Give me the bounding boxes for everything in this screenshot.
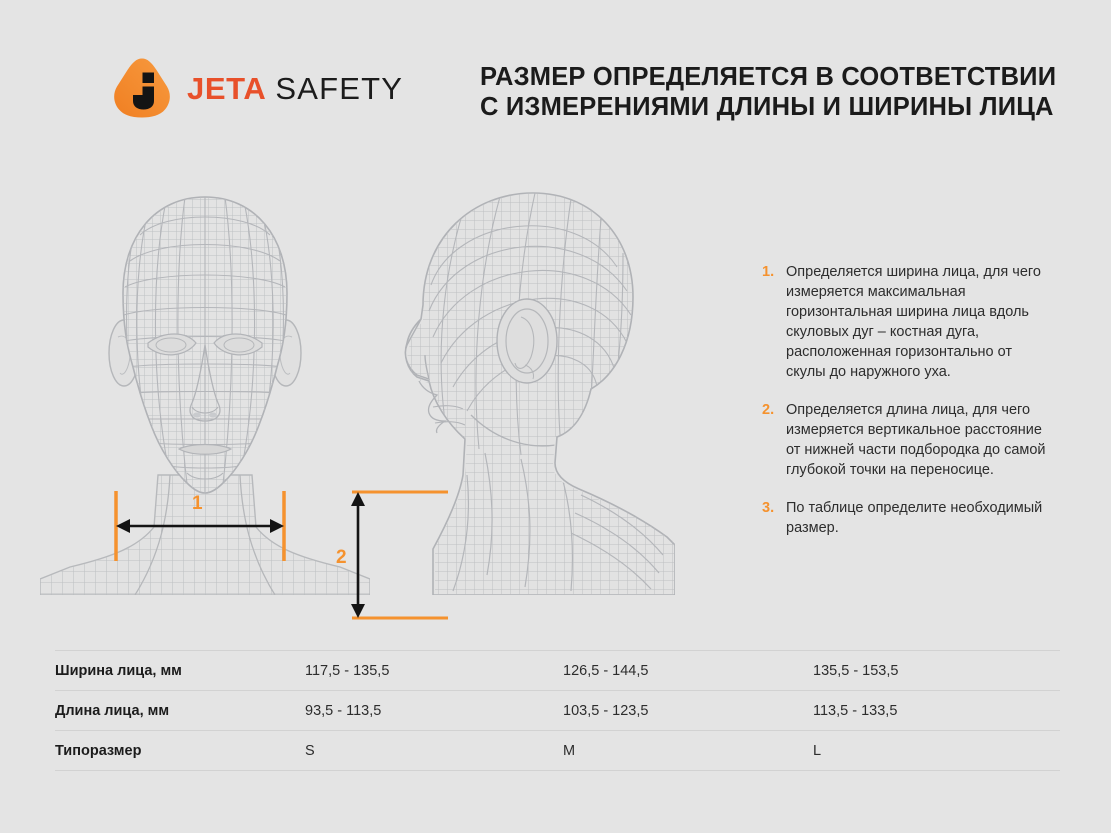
cell-face-length-l: 113,5 - 133,5 — [813, 691, 1060, 731]
table-row: Длина лица, мм 93,5 - 113,5 103,5 - 123,… — [55, 691, 1060, 731]
width-measure-label: 1 — [192, 494, 203, 513]
height-measure-label: 2 — [336, 548, 347, 567]
instruction-item-1: 1. Определяется ширина лица, для чего из… — [762, 262, 1052, 382]
instruction-item-2: 2. Определяется длина лица, для чего изм… — [762, 400, 1052, 480]
size-chart-table: Ширина лица, мм 117,5 - 135,5 126,5 - 14… — [55, 650, 1060, 771]
table-row: Типоразмер S M L — [55, 731, 1060, 771]
cell-face-length-m: 103,5 - 123,5 — [563, 691, 813, 731]
page-title-line-2: С ИЗМЕРЕНИЯМИ ДЛИНЫ И ШИРИНЫ ЛИЦА — [480, 92, 1080, 122]
row-label-face-width: Ширина лица, мм — [55, 651, 305, 691]
row-label-size: Типоразмер — [55, 731, 305, 771]
instruction-number-2: 2. — [762, 400, 786, 420]
instructions-list: 1. Определяется ширина лица, для чего из… — [762, 262, 1052, 556]
cell-size-s: S — [305, 731, 563, 771]
instruction-number-1: 1. — [762, 262, 786, 282]
height-measurement-annotation: 2 — [330, 480, 460, 630]
page-title: РАЗМЕР ОПРЕДЕЛЯЕТСЯ В СООТВЕТСТВИИ С ИЗМ… — [480, 62, 1080, 122]
cell-size-l: L — [813, 731, 1060, 771]
instruction-text-3: По таблице определите необходимый размер… — [786, 498, 1052, 538]
cell-face-width-l: 135,5 - 153,5 — [813, 651, 1060, 691]
cell-face-width-s: 117,5 - 135,5 — [305, 651, 563, 691]
face-measurement-illustration: 1 2 — [0, 175, 760, 605]
table-row: Ширина лица, мм 117,5 - 135,5 126,5 - 14… — [55, 651, 1060, 691]
brand-name-secondary: SAFETY — [275, 73, 403, 104]
instruction-text-2: Определяется длина лица, для чего измеря… — [786, 400, 1052, 480]
page-header: JETA SAFETY РАЗМЕР ОПРЕДЕЛЯЕТСЯ В СООТВЕ… — [0, 0, 1111, 150]
brand-wordmark: JETA SAFETY — [187, 73, 403, 104]
instruction-number-3: 3. — [762, 498, 786, 518]
page-title-line-1: РАЗМЕР ОПРЕДЕЛЯЕТСЯ В СООТВЕТСТВИИ — [480, 62, 1080, 92]
brand-name-primary: JETA — [187, 73, 266, 104]
cell-face-length-s: 93,5 - 113,5 — [305, 691, 563, 731]
instruction-item-3: 3. По таблице определите необходимый раз… — [762, 498, 1052, 538]
row-label-face-length: Длина лица, мм — [55, 691, 305, 731]
cell-face-width-m: 126,5 - 144,5 — [563, 651, 813, 691]
cell-size-m: M — [563, 731, 813, 771]
width-measurement-annotation: 1 — [100, 485, 300, 575]
instruction-text-1: Определяется ширина лица, для чего измер… — [786, 262, 1052, 382]
brand-logo: JETA SAFETY — [112, 57, 403, 119]
jeta-triangle-logo-icon — [112, 57, 172, 119]
